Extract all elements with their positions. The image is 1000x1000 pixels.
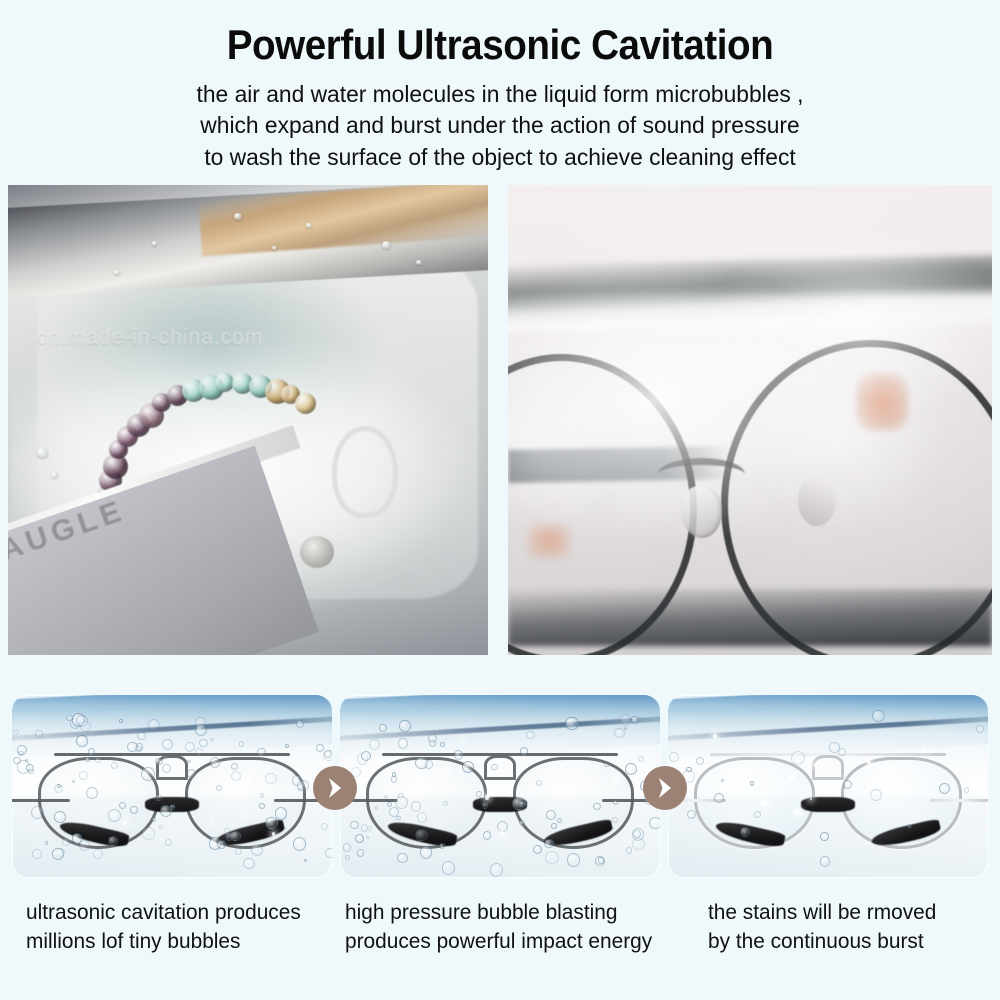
caption-line-2: produces powerful impact energy bbox=[345, 927, 685, 956]
bubble bbox=[375, 806, 378, 809]
bubble bbox=[231, 763, 238, 770]
subtitle-line-3: to wash the surface of the object to ach… bbox=[15, 142, 985, 173]
bubble bbox=[210, 757, 221, 768]
bubble bbox=[265, 817, 277, 829]
photo-glasses-closeup bbox=[508, 185, 992, 655]
bubble bbox=[152, 817, 157, 822]
bubble bbox=[108, 836, 118, 846]
bridge bbox=[484, 755, 516, 780]
bubble bbox=[870, 789, 882, 801]
bubble bbox=[631, 716, 639, 724]
bubble bbox=[439, 843, 445, 849]
bubble bbox=[57, 784, 61, 788]
bubble bbox=[137, 732, 146, 741]
bubble bbox=[754, 811, 760, 817]
water-droplet bbox=[306, 223, 312, 228]
image-watermark: cn.made-in-china.com bbox=[37, 326, 264, 350]
bubble bbox=[95, 757, 101, 763]
bubble bbox=[85, 757, 90, 762]
bubble bbox=[162, 764, 171, 773]
sparkle bbox=[444, 769, 447, 772]
caption-line-1: ultrasonic cavitation produces bbox=[26, 898, 336, 927]
caption-line-2: by the continuous burst bbox=[708, 927, 999, 956]
bubble bbox=[239, 741, 244, 746]
bubble bbox=[696, 757, 704, 765]
bubble bbox=[35, 730, 42, 737]
bubble bbox=[304, 859, 308, 863]
sparkle bbox=[797, 811, 801, 815]
bubble bbox=[443, 801, 448, 806]
bubble bbox=[491, 764, 498, 771]
bubble bbox=[343, 843, 352, 852]
bubble bbox=[141, 767, 155, 781]
bubble bbox=[829, 742, 840, 753]
subtitle-line-1: the air and water molecules in the liqui… bbox=[15, 79, 985, 110]
mist-band-light bbox=[508, 293, 992, 331]
bubble bbox=[369, 739, 380, 750]
bubble bbox=[321, 823, 328, 830]
page-title: Powerful Ultrasonic Cavitation bbox=[40, 0, 960, 66]
sparkle bbox=[244, 815, 247, 818]
bubble bbox=[425, 760, 433, 768]
lower-dark-band bbox=[508, 589, 992, 645]
step-caption-3: the stains will be rmoved by the continu… bbox=[708, 898, 999, 956]
bubble bbox=[257, 748, 266, 757]
step-panel-3 bbox=[668, 695, 988, 878]
bubble bbox=[399, 720, 410, 731]
header: Powerful Ultrasonic Cavitation the air a… bbox=[0, 0, 1000, 173]
bubble bbox=[296, 720, 304, 728]
bubble bbox=[199, 739, 207, 747]
sparkle bbox=[762, 801, 766, 805]
bubble bbox=[265, 773, 277, 785]
bubble bbox=[462, 761, 474, 773]
subtitle-line-2: which expand and burst under the action … bbox=[15, 110, 985, 141]
bubble bbox=[119, 719, 123, 723]
bubble bbox=[350, 821, 358, 829]
bubble bbox=[185, 742, 195, 752]
temple-right bbox=[930, 799, 988, 802]
bubble bbox=[626, 847, 633, 854]
water-droplet bbox=[152, 241, 157, 245]
bubble bbox=[544, 839, 554, 849]
photo-bracelet-in-cleaner: AUGLE cn.made-in-china.com bbox=[8, 185, 488, 655]
bubble bbox=[512, 797, 526, 811]
sparkle bbox=[614, 778, 617, 781]
chevron-right-icon bbox=[325, 776, 345, 800]
bubble bbox=[417, 812, 427, 822]
bubble bbox=[292, 775, 302, 785]
bubble bbox=[368, 826, 372, 830]
sparkle bbox=[248, 779, 252, 783]
bubble bbox=[411, 801, 421, 811]
bubble bbox=[520, 747, 528, 755]
bubble bbox=[964, 787, 970, 793]
bracelet-charm-small bbox=[300, 536, 334, 568]
bubble bbox=[142, 827, 155, 840]
bubble bbox=[66, 715, 73, 722]
sparkle bbox=[813, 764, 815, 766]
bubble bbox=[88, 748, 95, 755]
step-arrow-2 bbox=[643, 766, 687, 810]
sparkle bbox=[272, 832, 275, 835]
bubble bbox=[243, 858, 255, 870]
temple-left bbox=[12, 799, 70, 802]
step-panel-2 bbox=[340, 695, 660, 878]
bubble bbox=[195, 748, 203, 756]
bubble bbox=[45, 841, 49, 845]
bubble bbox=[32, 849, 42, 859]
sparkle bbox=[867, 761, 871, 765]
bubble bbox=[482, 802, 488, 808]
bubble bbox=[76, 735, 88, 747]
bubble bbox=[632, 828, 644, 840]
bubble bbox=[490, 863, 504, 877]
bubble bbox=[251, 844, 263, 856]
bubble bbox=[620, 714, 631, 725]
bubble bbox=[357, 849, 364, 856]
bubble bbox=[86, 787, 98, 799]
bubble bbox=[379, 724, 387, 732]
bubble bbox=[355, 834, 364, 843]
bubble bbox=[649, 817, 660, 829]
bubble bbox=[440, 742, 445, 747]
bubble bbox=[324, 750, 332, 758]
bubble bbox=[820, 832, 829, 841]
bubble bbox=[209, 837, 221, 849]
bubble bbox=[638, 756, 644, 762]
bubble bbox=[872, 710, 885, 723]
bubble bbox=[454, 750, 463, 759]
infographic-page: Powerful Ultrasonic Cavitation the air a… bbox=[0, 0, 1000, 1000]
bubble bbox=[135, 746, 142, 753]
bubble bbox=[420, 846, 433, 859]
bubble bbox=[686, 767, 691, 772]
bubble bbox=[598, 857, 605, 864]
nose-pad-left bbox=[682, 486, 722, 538]
step-arrow-1 bbox=[313, 766, 357, 810]
bubble bbox=[54, 811, 65, 822]
bubble bbox=[325, 848, 332, 858]
bubble bbox=[442, 861, 455, 874]
bracelet-clasp-loop bbox=[332, 426, 398, 518]
bubble bbox=[476, 791, 481, 796]
bubble bbox=[750, 781, 754, 785]
bubble bbox=[567, 853, 580, 866]
step-caption-2: high pressure bubble blasting produces p… bbox=[345, 898, 685, 956]
bridge bbox=[812, 755, 844, 780]
bubble bbox=[533, 845, 542, 854]
bubble bbox=[17, 745, 27, 755]
bubble bbox=[13, 730, 18, 735]
bubble bbox=[345, 855, 350, 860]
caption-line-2: millions lof tiny bubbles bbox=[26, 927, 336, 956]
bubble bbox=[93, 849, 103, 859]
bubble bbox=[669, 752, 679, 762]
bubble bbox=[361, 824, 368, 831]
bubble bbox=[28, 769, 33, 774]
bubble bbox=[907, 824, 911, 828]
bubble bbox=[396, 816, 400, 820]
bubble bbox=[160, 805, 172, 817]
bubble bbox=[557, 818, 562, 823]
water-droplet bbox=[114, 270, 120, 275]
bubble bbox=[79, 771, 88, 780]
bubble bbox=[546, 810, 556, 820]
bubble bbox=[62, 838, 70, 846]
bubble bbox=[545, 851, 559, 865]
bubble bbox=[210, 738, 214, 742]
bubble bbox=[397, 853, 408, 864]
water-droplet bbox=[51, 472, 58, 478]
water-droplet bbox=[37, 448, 48, 457]
chevron-right-icon bbox=[655, 776, 675, 800]
bubble bbox=[526, 731, 534, 739]
bubble bbox=[389, 807, 399, 817]
bubble bbox=[293, 837, 306, 850]
caption-line-1: high pressure bubble blasting bbox=[345, 898, 685, 927]
water-droplet bbox=[234, 213, 242, 220]
bubble bbox=[565, 717, 579, 731]
bubble bbox=[155, 794, 162, 801]
subtitle: the air and water molecules in the liqui… bbox=[15, 79, 985, 173]
bubble bbox=[593, 803, 601, 811]
step-panel-1 bbox=[12, 695, 332, 878]
bubble bbox=[791, 751, 805, 765]
bubble bbox=[187, 760, 191, 764]
bubble bbox=[429, 740, 436, 747]
bubble bbox=[52, 848, 64, 860]
bubble bbox=[235, 848, 242, 855]
caption-line-1: the stains will be rmoved bbox=[708, 898, 999, 927]
bubble bbox=[976, 725, 984, 733]
bubble bbox=[275, 807, 288, 820]
bracelet-bead bbox=[295, 393, 316, 414]
step-caption-1: ultrasonic cavitation produces millions … bbox=[26, 898, 336, 956]
bubble bbox=[536, 780, 541, 785]
sparkle bbox=[790, 774, 795, 779]
bubble bbox=[820, 856, 831, 867]
